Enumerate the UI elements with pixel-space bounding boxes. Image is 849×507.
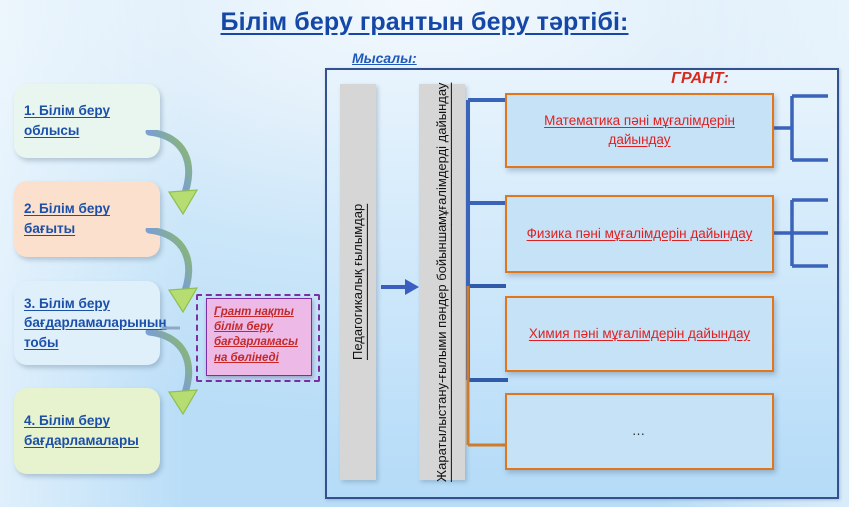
grant-note-box[interactable]: Грант нақты білім беру бағдарламасы на б… xyxy=(206,298,312,376)
result-box-more-label: … xyxy=(622,422,658,441)
result-box-physics-label: Физика пәні мұғалімдерін дайындау xyxy=(517,225,763,244)
step-box-3[interactable]: 3. Білім беру бағдарламаларының тобы xyxy=(14,281,160,365)
note-connector xyxy=(160,300,200,356)
grant-note-label: Грант нақты білім беру бағдарламасы на б… xyxy=(207,299,311,366)
example-label: Мысалы: xyxy=(352,50,417,66)
right-arrow-icon xyxy=(381,276,419,298)
vertical-column-pedagogy-label: Педагогикалық ғылымдар xyxy=(340,84,376,480)
result-box-physics[interactable]: Физика пәні мұғалімдерін дайындау xyxy=(505,195,774,273)
result-box-more[interactable]: … xyxy=(505,393,774,470)
page-title: Білім беру грантын беру тәртібі: xyxy=(0,8,849,37)
vertical-column-science-line1: Жаратылыстану-ғылыми пәндер бойынша xyxy=(434,225,450,482)
step-box-2-label: 2. Білім беру бағыты xyxy=(14,199,160,238)
vertical-column-science-line2: мұғалімдерді дайындау xyxy=(434,82,450,224)
bracket-connector-right xyxy=(766,88,836,298)
result-box-math-label: Математика пәні мұғалімдерін дайындау xyxy=(507,112,772,149)
result-box-math[interactable]: Математика пәні мұғалімдерін дайындау xyxy=(505,93,774,168)
result-box-chemistry[interactable]: Химия пәні мұғалімдерін дайындау xyxy=(505,296,774,372)
step-box-1-label: 1. Білім беру облысы xyxy=(14,101,160,140)
step-box-2[interactable]: 2. Білім беру бағыты xyxy=(14,181,160,257)
step-box-1[interactable]: 1. Білім беру облысы xyxy=(14,84,160,158)
step-box-4[interactable]: 4. Білім беру бағдарламалары xyxy=(14,388,160,474)
tree-connector-left xyxy=(462,90,510,480)
step-box-4-label: 4. Білім беру бағдарламалары xyxy=(14,411,160,450)
grant-label: ГРАНТ: xyxy=(600,70,800,88)
slide-stage: Білім беру грантын беру тәртібі: Мысалы:… xyxy=(0,0,849,507)
curved-arrow-icon-1 xyxy=(143,130,203,222)
result-box-chemistry-label: Химия пәні мұғалімдерін дайындау xyxy=(519,325,760,344)
vertical-column-science-label: Жаратылыстану-ғылыми пәндер бойынша мұға… xyxy=(419,84,465,480)
